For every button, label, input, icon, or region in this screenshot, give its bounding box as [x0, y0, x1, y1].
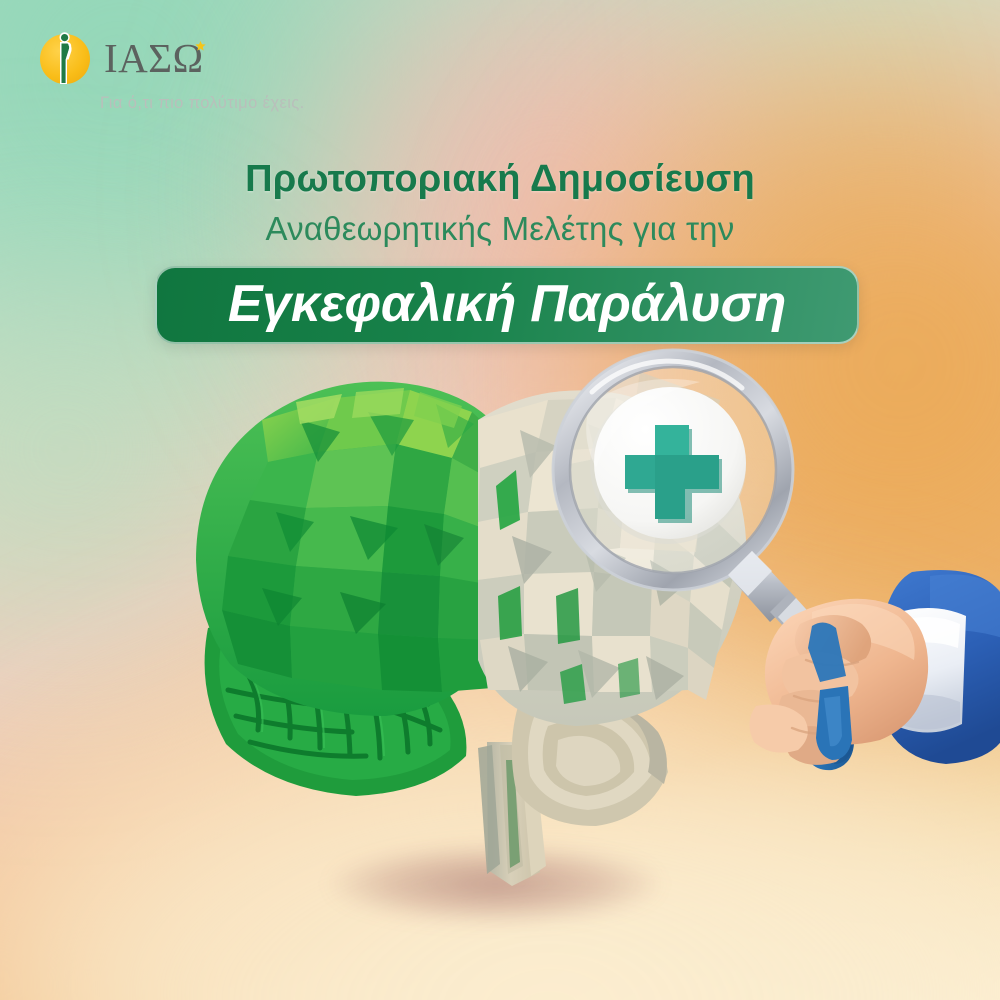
poster-canvas: ΙΑΣΩ Για ό,τι πιο πολύτιμο έχεις. Πρωτοπ…: [0, 0, 1000, 1000]
illustration-stage: [0, 0, 1000, 1000]
illustration-svg: [0, 0, 1000, 1000]
brain-left-hemisphere: [196, 382, 500, 716]
